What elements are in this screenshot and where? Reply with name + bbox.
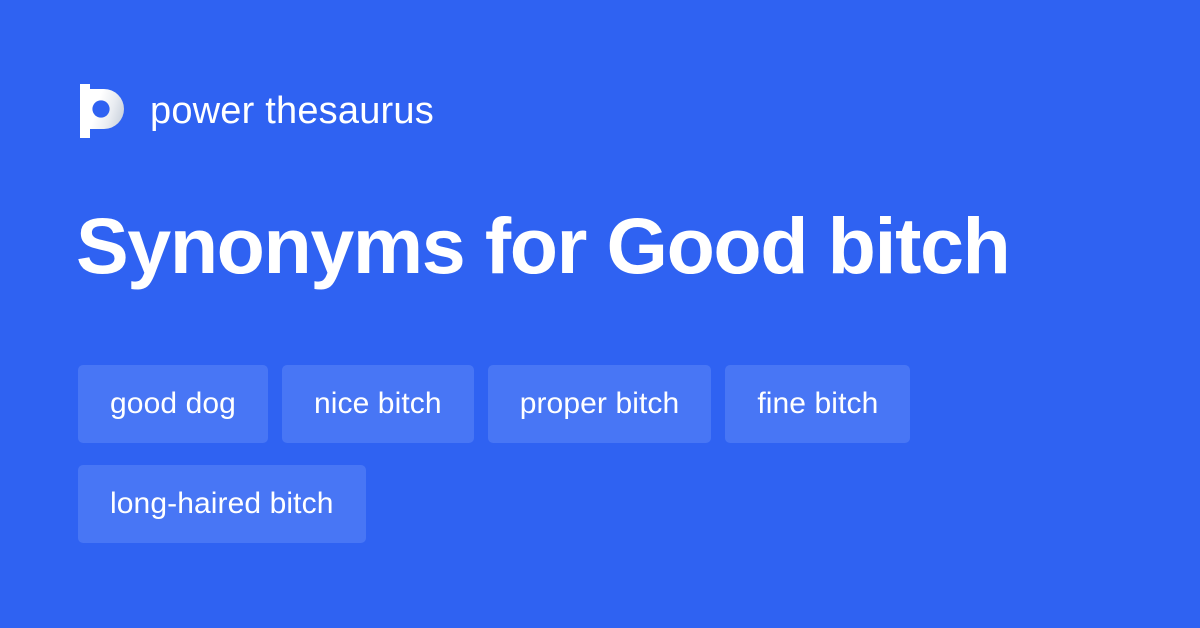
power-thesaurus-b-logo-icon [78,84,126,138]
page-title: Synonyms for Good bitch [76,199,1156,293]
og-card: power thesaurus Synonyms for Good bitch … [0,0,1200,628]
synonym-chip[interactable]: good dog [78,365,268,443]
synonym-chip-list: good dog nice bitch proper bitch fine bi… [78,365,1138,543]
synonym-chip[interactable]: proper bitch [488,365,712,443]
brand-lockup[interactable]: power thesaurus [78,82,434,140]
synonym-chip[interactable]: nice bitch [282,365,474,443]
synonym-chip[interactable]: long-haired bitch [78,465,366,543]
synonym-chip[interactable]: fine bitch [725,365,910,443]
brand-name: power thesaurus [150,92,434,130]
